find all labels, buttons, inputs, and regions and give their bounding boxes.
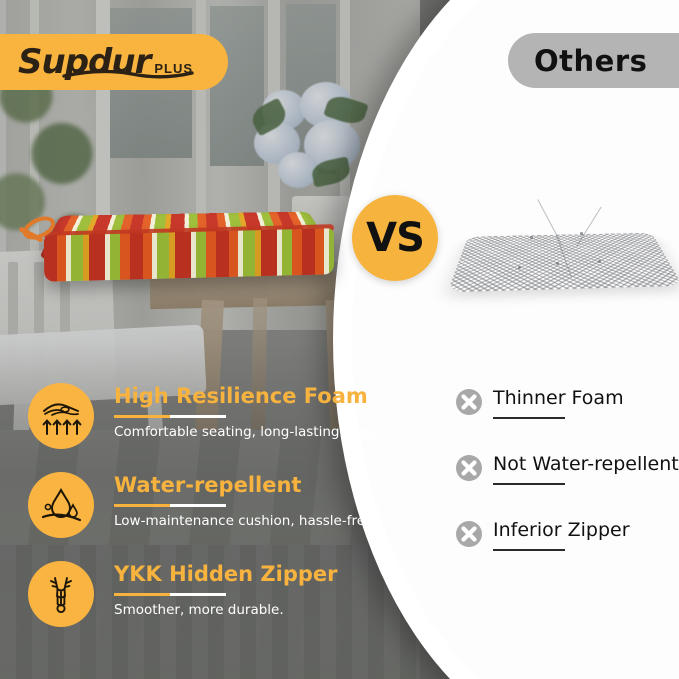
vs-label: VS [366, 215, 424, 261]
drawback-title: Inferior Zipper [493, 519, 630, 542]
drawback-text: Thinner Foam [493, 387, 624, 419]
drawback-divider [493, 417, 565, 419]
feature-item: Water-repellent Low-maintenance cushion,… [28, 470, 378, 559]
drawback-title: Not Water-repellent [493, 453, 679, 476]
feature-title: YKK Hidden Zipper [114, 563, 384, 586]
comparison-infographic: Supdur PLUS Others VS [0, 0, 679, 679]
feature-subtitle: Low-maintenance cushion, hassle-free. [114, 513, 384, 529]
feature-title: High Resilience Foam [114, 385, 384, 408]
water-droplet-icon [28, 472, 94, 538]
feature-subtitle: Smoother, more durable. [114, 602, 384, 618]
competitor-drawback-list: Thinner Foam Not Water-repellent Inferio… [455, 388, 679, 586]
feature-divider [114, 415, 226, 418]
brand-badge: Supdur PLUS [0, 34, 228, 90]
product-cushion-image [18, 170, 348, 295]
others-badge: Others [508, 33, 679, 88]
competitor-cushion-body [448, 233, 679, 293]
competitor-cushion-image [458, 192, 670, 312]
drawback-text: Inferior Zipper [493, 519, 630, 551]
feature-text: Water-repellent Low-maintenance cushion,… [114, 474, 384, 529]
feature-text: High Resilience Foam Comfortable seating… [114, 385, 384, 440]
feature-item: YKK Hidden Zipper Smoother, more durable… [28, 559, 378, 648]
x-circle-icon [455, 388, 483, 416]
vs-badge: VS [352, 195, 438, 281]
drawback-item: Not Water-repellent [455, 454, 679, 520]
drawback-title: Thinner Foam [493, 387, 624, 410]
hand-resilience-icon [28, 383, 94, 449]
drawback-item: Thinner Foam [455, 388, 679, 454]
product-feature-list: High Resilience Foam Comfortable seating… [28, 381, 378, 648]
drawback-text: Not Water-repellent [493, 453, 679, 485]
drawback-divider [493, 483, 565, 485]
x-circle-icon [455, 454, 483, 482]
feature-item: High Resilience Foam Comfortable seating… [28, 381, 378, 470]
feature-subtitle: Comfortable seating, long-lasting suppor… [114, 424, 384, 440]
feature-text: YKK Hidden Zipper Smoother, more durable… [114, 563, 384, 618]
drawback-item: Inferior Zipper [455, 520, 679, 586]
brand-swoosh-icon [62, 70, 194, 79]
feature-divider [114, 504, 226, 507]
feature-title: Water-repellent [114, 474, 384, 497]
others-label: Others [534, 44, 647, 78]
cushion-front-edge [44, 228, 334, 282]
x-circle-icon [455, 520, 483, 548]
feature-divider [114, 593, 226, 596]
zipper-icon [28, 561, 94, 627]
drawback-divider [493, 549, 565, 551]
